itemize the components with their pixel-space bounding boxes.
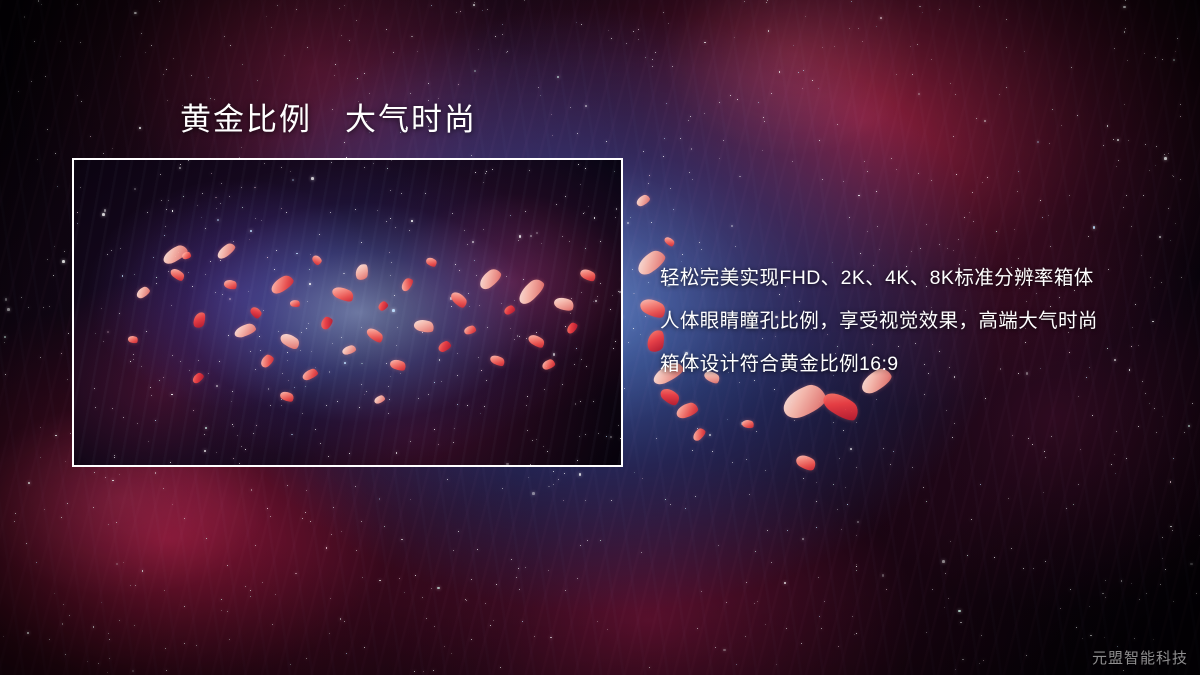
body-line-2: 人体眼睛瞳孔比例，享受视觉效果，高端大气时尚: [660, 300, 1160, 343]
body-line-3: 箱体设计符合黄金比例16:9: [660, 343, 1160, 386]
watermark: 元盟智能科技: [1092, 649, 1188, 669]
preview-panel[interactable]: [72, 158, 623, 467]
slide-canvas: 黄金比例 大气时尚 轻松完美实现FHD、2K、4K、8K标准分辨率箱体 人体眼睛…: [0, 0, 1200, 675]
body-line-1: 轻松完美实现FHD、2K、4K、8K标准分辨率箱体: [660, 257, 1160, 300]
body-copy: 轻松完美实现FHD、2K、4K、8K标准分辨率箱体 人体眼睛瞳孔比例，享受视觉效…: [660, 257, 1160, 386]
panel-filaments: [74, 160, 621, 465]
page-title: 黄金比例 大气时尚: [180, 101, 477, 139]
